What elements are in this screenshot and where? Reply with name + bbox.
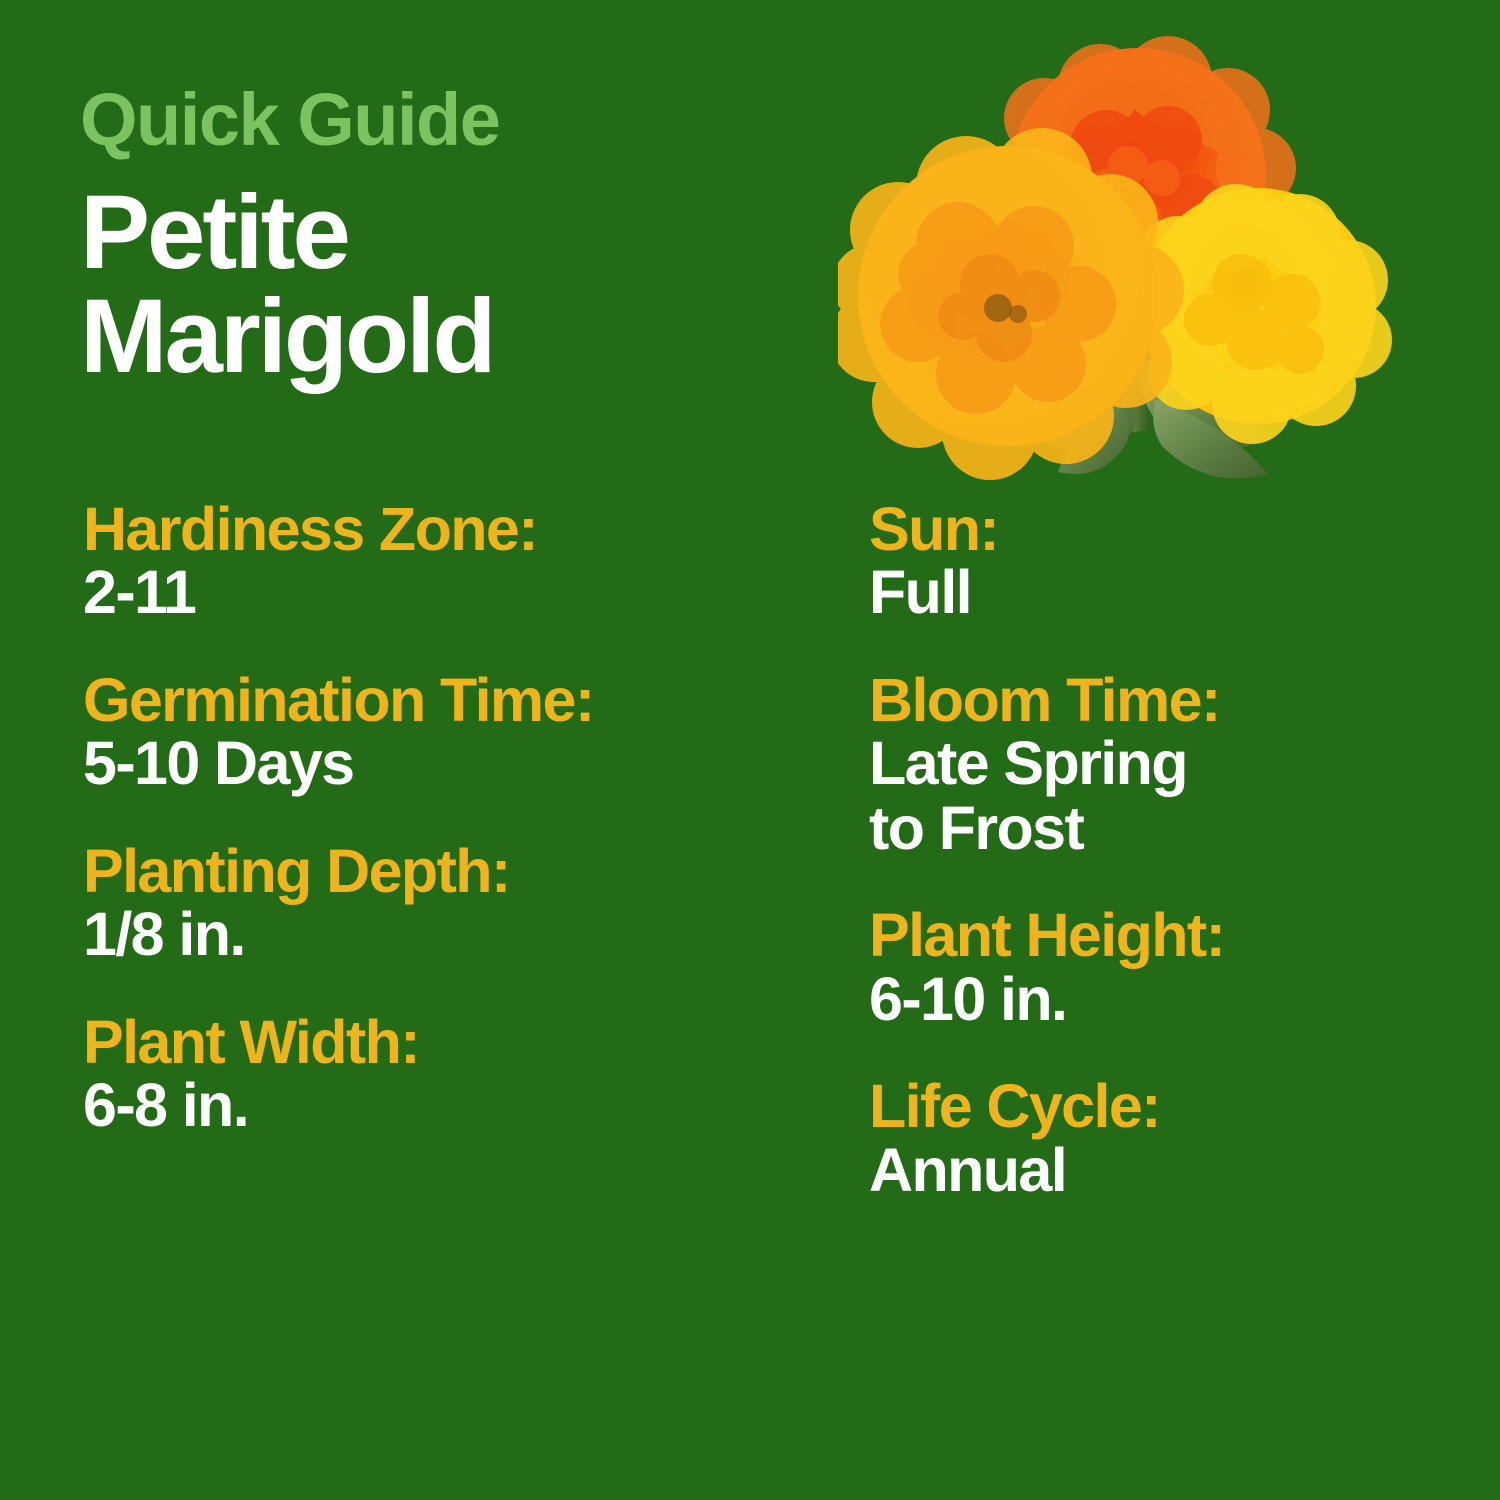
spec-value: 6-8 in. [83,1073,823,1138]
spec-life-cycle: Life Cycle: Annual [869,1075,1429,1202]
spec-value: 5-10 Days [83,731,823,796]
spec-column-right: Sun: Full Bloom Time: Late Spring to Fro… [869,498,1429,1202]
quick-guide-eyebrow: Quick Guide [80,84,800,155]
spec-label: Plant Width: [83,1011,823,1073]
golden-orange-bloom [838,128,1184,480]
spec-planting-depth: Planting Depth: 1/8 in. [83,840,823,967]
spec-value: 1/8 in. [83,902,823,967]
spec-bloom-time: Bloom Time: Late Spring to Frost [869,669,1429,861]
spec-label: Hardiness Zone: [83,498,823,560]
spec-sun: Sun: Full [869,498,1429,625]
marigold-flower-image [838,28,1432,496]
foliage-group [1016,278,1274,478]
spec-plant-width: Plant Width: 6-8 in. [83,1011,823,1138]
spec-value: 2-11 [83,560,823,625]
spec-value: Annual [869,1138,1429,1203]
spec-plant-height: Plant Height: 6-10 in. [869,904,1429,1031]
orange-red-bloom [990,36,1296,304]
spec-value: 6-10 in. [869,967,1429,1032]
spec-label: Germination Time: [83,669,823,731]
spec-label: Bloom Time: [869,669,1429,731]
spec-hardiness-zone: Hardiness Zone: 2-11 [83,498,823,625]
spec-value: Late Spring to Frost [869,731,1429,860]
spec-label: Life Cycle: [869,1075,1429,1137]
quick-guide-card: Quick Guide Petite Marigold [0,0,1500,1500]
page-title: Petite Marigold [80,181,680,389]
header: Quick Guide Petite Marigold [80,84,800,389]
spec-label: Sun: [869,498,1429,560]
spec-label: Planting Depth: [83,840,823,902]
spec-label: Plant Height: [869,904,1429,966]
spec-column-left: Hardiness Zone: 2-11 Germination Time: 5… [83,498,823,1138]
spec-value: Full [869,560,1429,625]
spec-germination-time: Germination Time: 5-10 Days [83,669,823,796]
yellow-bloom [1128,184,1392,444]
